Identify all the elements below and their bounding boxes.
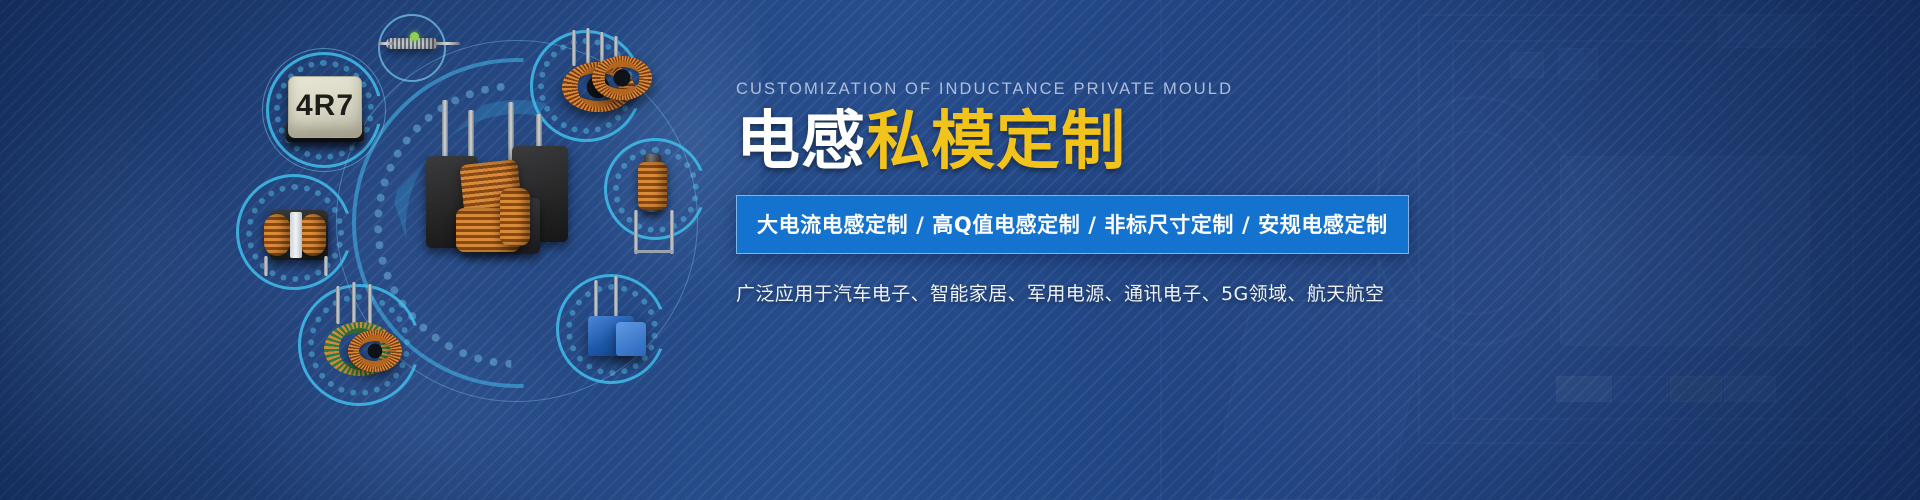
product-large-common-mode-choke-pair [404, 100, 604, 280]
headline-accent-text: 私模定制 [866, 105, 1126, 179]
product-air-core-coil [372, 12, 468, 84]
banner-text-block: CUSTOMIZATION OF INDUCTANCE PRIVATE MOUL… [736, 80, 1376, 306]
banner-eyebrow-english: CUSTOMIZATION OF INDUCTANCE PRIVATE MOUL… [736, 80, 1376, 99]
headline-primary-text: 电感 [736, 105, 866, 179]
banner-headline: 电感私模定制 [736, 109, 1376, 177]
feature-list-bar: 大电流电感定制 / 高Q值电感定制 / 非标尺寸定制 / 安规电感定制 [736, 195, 1409, 254]
product-blue-radial-inductor [556, 274, 674, 394]
product-axial-ferrite-choke [604, 138, 712, 268]
product-copper-wound-bobbin-inductor [234, 172, 358, 296]
product-green-toroid-choke [296, 282, 436, 408]
feature-list-text: 大电流电感定制 / 高Q值电感定制 / 非标尺寸定制 / 安规电感定制 [757, 213, 1388, 237]
banner-description: 广泛应用于汽车电子、智能家居、军用电源、通讯电子、5G领域、航天航空 [736, 279, 1376, 306]
smd-chip-label: 4R7 [288, 89, 362, 123]
product-banner: 4R7 [0, 0, 1920, 500]
product-smd-power-inductor-4r7: 4R7 [262, 48, 386, 172]
